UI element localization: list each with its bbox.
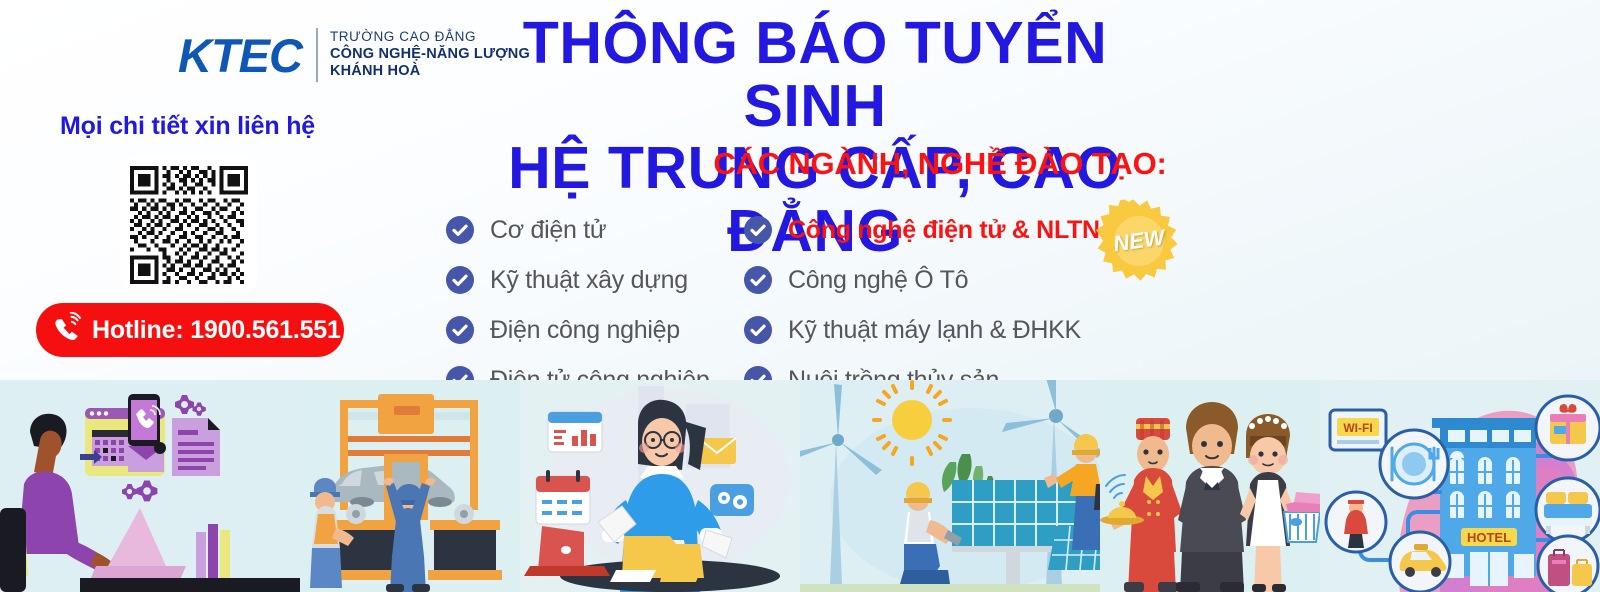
hotline-label: Hotline: 1900.561.551 bbox=[92, 316, 341, 345]
contact-heading: Mọi chi tiết xin liên hệ bbox=[55, 112, 320, 141]
new-badge-label: NEW bbox=[1090, 192, 1187, 289]
check-circle-icon bbox=[744, 316, 772, 344]
program-item[interactable]: Công nghệ điện tử & NLTN bbox=[744, 205, 1100, 255]
program-item[interactable]: Công nghệ Ô Tô bbox=[744, 255, 1100, 305]
check-circle-icon bbox=[446, 316, 474, 344]
programs-column-1: Cơ điện tử Kỹ thuật xây dựng Điện công n… bbox=[446, 205, 710, 405]
logo-divider bbox=[316, 28, 318, 82]
program-item[interactable]: Cơ điện tử bbox=[446, 205, 710, 255]
business-woman-scene bbox=[520, 380, 800, 592]
program-label: Kỹ thuật máy lạnh & ĐHKK bbox=[788, 316, 1081, 345]
banner-top-section: KTEC TRƯỜNG CAO ĐẲNG CÔNG NGHỆ-NĂNG LƯỢN… bbox=[0, 0, 1600, 380]
wifi-label: WI-FI bbox=[1343, 421, 1372, 435]
program-label: Kỹ thuật xây dựng bbox=[490, 266, 688, 295]
program-label: Cơ điện tử bbox=[490, 216, 606, 245]
program-label-featured: Công nghệ điện tử & NLTN bbox=[788, 216, 1100, 245]
check-circle-icon bbox=[446, 266, 474, 294]
new-badge: NEW bbox=[1090, 192, 1187, 289]
check-circle-icon bbox=[744, 216, 772, 244]
page-title-line-1: THÔNG BÁO TUYỂN SINH bbox=[470, 12, 1160, 137]
logo-wordmark: KTEC bbox=[178, 32, 316, 79]
solar-wind-energy-scene bbox=[800, 380, 1100, 592]
programs-heading: CÁC NGÀNH, NGHỀ ĐÀO TẠO: bbox=[700, 146, 1180, 182]
illustration-band: HOTEL WI-FI bbox=[0, 380, 1600, 592]
admission-banner: KTEC TRƯỜNG CAO ĐẲNG CÔNG NGHỆ-NĂNG LƯỢN… bbox=[0, 0, 1600, 592]
program-item[interactable]: Kỹ thuật xây dựng bbox=[446, 255, 710, 305]
hotel-sign-label: HOTEL bbox=[1467, 530, 1511, 545]
program-item[interactable]: Kỹ thuật máy lạnh & ĐHKK bbox=[744, 305, 1100, 355]
hotel-services-scene: HOTEL WI-FI bbox=[1320, 380, 1600, 592]
program-label: Điện công nghiệp bbox=[490, 316, 680, 345]
hotline-button[interactable]: Hotline: 1900.561.551 bbox=[36, 303, 344, 357]
office-desk-scene bbox=[0, 380, 300, 592]
programs-column-2: Công nghệ điện tử & NLTN Công nghệ Ô Tô … bbox=[744, 205, 1100, 405]
hotel-staff-scene bbox=[1100, 380, 1320, 592]
auto-repair-scene bbox=[300, 380, 520, 592]
check-circle-icon bbox=[744, 266, 772, 294]
qr-code-container[interactable] bbox=[120, 156, 257, 293]
program-item[interactable]: Điện công nghiệp bbox=[446, 305, 710, 355]
program-label: Công nghệ Ô Tô bbox=[788, 266, 968, 295]
check-circle-icon bbox=[446, 216, 474, 244]
qr-code-icon bbox=[130, 166, 248, 284]
phone-ringing-icon bbox=[50, 312, 86, 348]
